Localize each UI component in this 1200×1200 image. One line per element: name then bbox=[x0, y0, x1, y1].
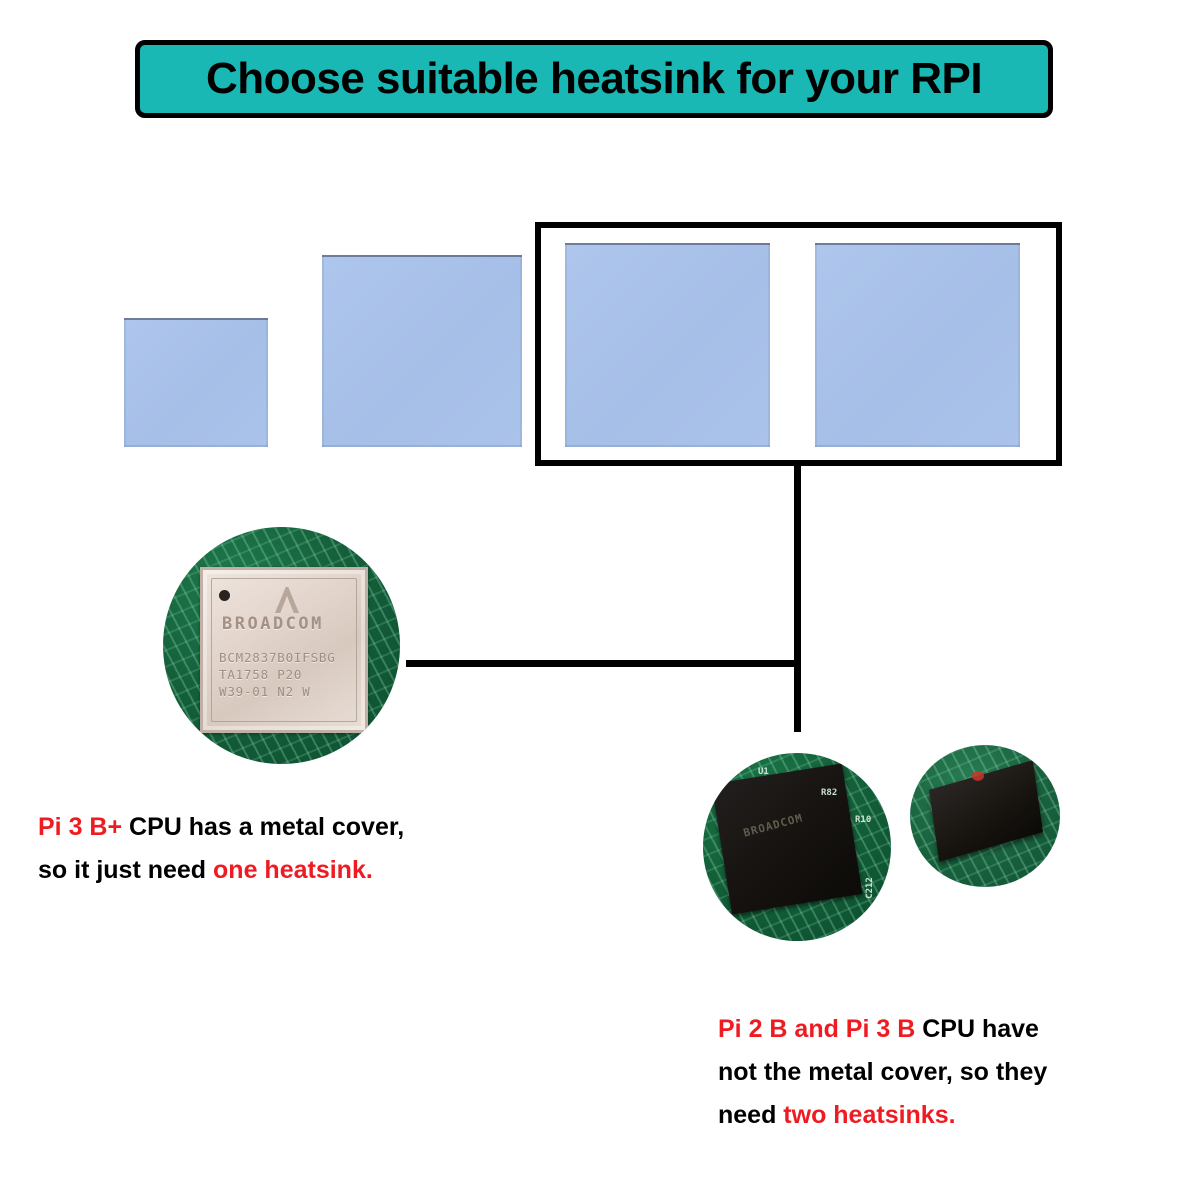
caption-text: CPU have bbox=[915, 1015, 1039, 1043]
silkscreen-c212: C212 bbox=[865, 877, 875, 899]
caption-line: Pi 2 B and Pi 3 B CPU have bbox=[718, 1008, 1168, 1051]
photo-pi3bplus-cpu: BROADCOM BCM2837B0IFSBG TA1758 P20 W39-0… bbox=[163, 527, 400, 764]
caption-line: so it just need one heatsink. bbox=[38, 849, 578, 892]
caption-pi2b-pi3b: Pi 2 B and Pi 3 B CPU have not the metal… bbox=[718, 1008, 1168, 1137]
caption-highlight: one heatsink. bbox=[213, 856, 373, 884]
caption-line: Pi 3 B+ CPU has a metal cover, bbox=[38, 806, 578, 849]
caption-text: not the metal cover, so they bbox=[718, 1058, 1047, 1086]
cpu-date-code-text: W39-01 N2 W bbox=[219, 684, 311, 699]
caption-text: need bbox=[718, 1101, 783, 1129]
thermal-pad-small bbox=[124, 318, 268, 447]
caption-highlight: Pi 2 B and Pi 3 B bbox=[718, 1015, 915, 1043]
cpu-brand-text: BROADCOM bbox=[222, 614, 324, 634]
highlight-box-large-pads bbox=[535, 222, 1062, 466]
led-indicator-icon bbox=[972, 771, 984, 781]
cpu-bare-package: BROADCOM bbox=[711, 763, 862, 914]
caption-text: so it just need bbox=[38, 856, 213, 884]
infographic-page: Choose suitable heatsink for your RPI BR… bbox=[0, 0, 1200, 1200]
silkscreen-u1: U1 bbox=[758, 767, 769, 777]
thermal-pad-medium bbox=[322, 255, 522, 447]
broadcom-logo-icon: BROADCOM bbox=[742, 811, 804, 839]
page-title: Choose suitable heatsink for your RPI bbox=[206, 57, 982, 101]
caption-line: not the metal cover, so they bbox=[718, 1051, 1168, 1094]
cpu-pin1-dot-icon bbox=[219, 590, 230, 601]
caption-highlight: Pi 3 B+ bbox=[38, 813, 122, 841]
caption-text: CPU has a metal cover, bbox=[122, 813, 404, 841]
caption-line: need two heatsinks. bbox=[718, 1094, 1168, 1137]
connector-line-vertical bbox=[794, 462, 801, 732]
connector-line-horizontal bbox=[406, 660, 798, 667]
photo-pi3b-bare-cpu-angled bbox=[910, 745, 1060, 887]
cpu-lot-code-text: TA1758 P20 bbox=[219, 667, 302, 682]
title-banner: Choose suitable heatsink for your RPI bbox=[135, 40, 1053, 118]
cpu-metal-cover: BROADCOM BCM2837B0IFSBG TA1758 P20 W39-0… bbox=[200, 567, 368, 733]
cpu-part-number-text: BCM2837B0IFSBG bbox=[219, 650, 336, 665]
photo-pi2b-bare-cpu: BROADCOM U1 R82 R10 C212 bbox=[703, 753, 891, 941]
caption-highlight: two heatsinks. bbox=[783, 1101, 955, 1129]
caption-pi3bplus: Pi 3 B+ CPU has a metal cover, so it jus… bbox=[38, 806, 578, 892]
silkscreen-r10: R10 bbox=[855, 815, 871, 825]
silkscreen-r82: R82 bbox=[821, 788, 837, 798]
